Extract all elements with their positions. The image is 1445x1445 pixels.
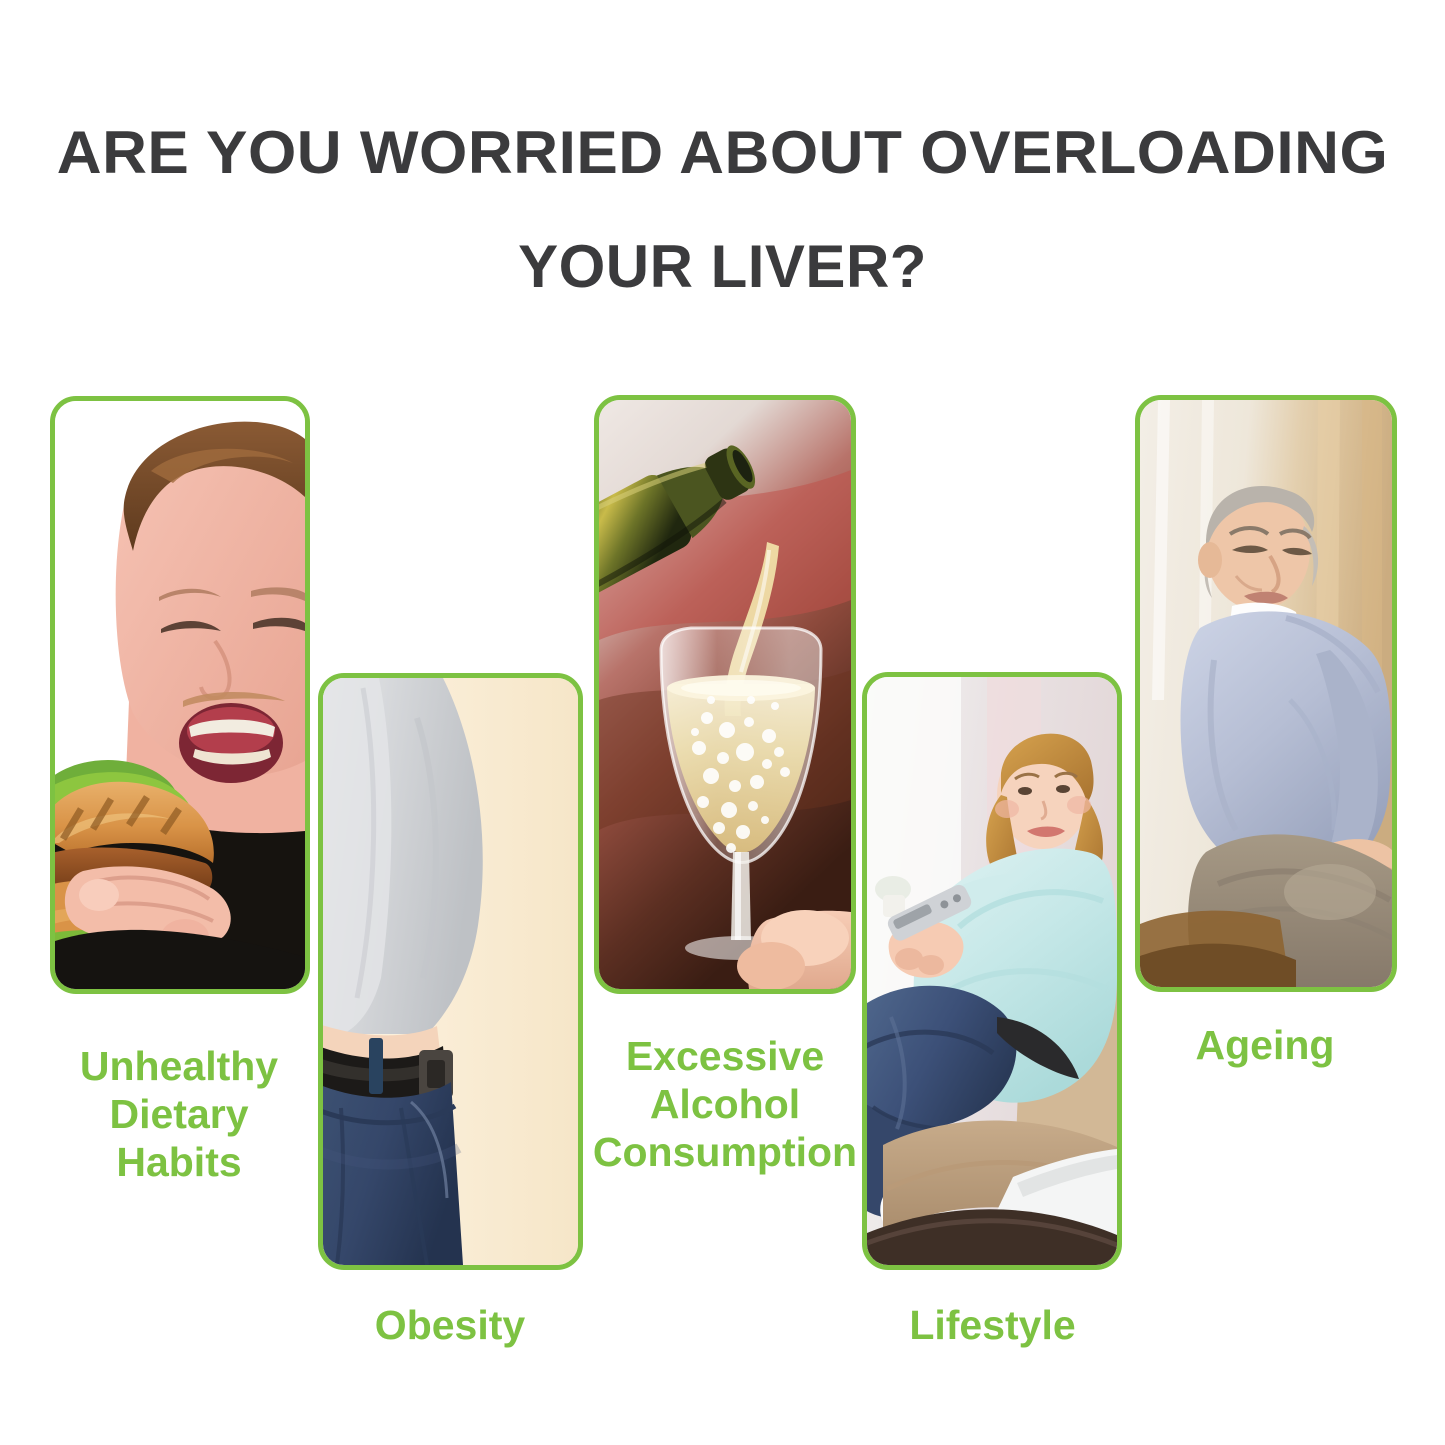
caption-lifestyle: Lifestyle	[845, 1302, 1140, 1350]
photo-lifestyle	[867, 677, 1117, 1265]
card-ageing[interactable]	[1135, 395, 1397, 992]
photo-excessive-alcohol-consumption	[599, 400, 851, 989]
page-title-line-1: ARE YOU WORRIED ABOUT OVERLOADING	[0, 96, 1445, 210]
card-unhealthy-dietary-habits[interactable]	[50, 396, 310, 994]
caption-excessive-alcohol-consumption: Excessive Alcohol Consumption	[575, 1033, 875, 1177]
photo-unhealthy-dietary-habits	[55, 401, 305, 989]
caption-unhealthy-dietary-habits: Unhealthy Dietary Habits	[18, 1043, 340, 1187]
photo-ageing	[1140, 400, 1392, 987]
page-title-line-2: YOUR LIVER?	[0, 210, 1445, 324]
page-title: ARE YOU WORRIED ABOUT OVERLOADING YOUR L…	[0, 96, 1445, 324]
caption-ageing: Ageing	[1115, 1022, 1415, 1070]
photo-obesity	[323, 678, 578, 1265]
card-excessive-alcohol-consumption[interactable]	[594, 395, 856, 994]
caption-obesity: Obesity	[300, 1302, 600, 1350]
card-obesity[interactable]	[318, 673, 583, 1270]
card-lifestyle[interactable]	[862, 672, 1122, 1270]
